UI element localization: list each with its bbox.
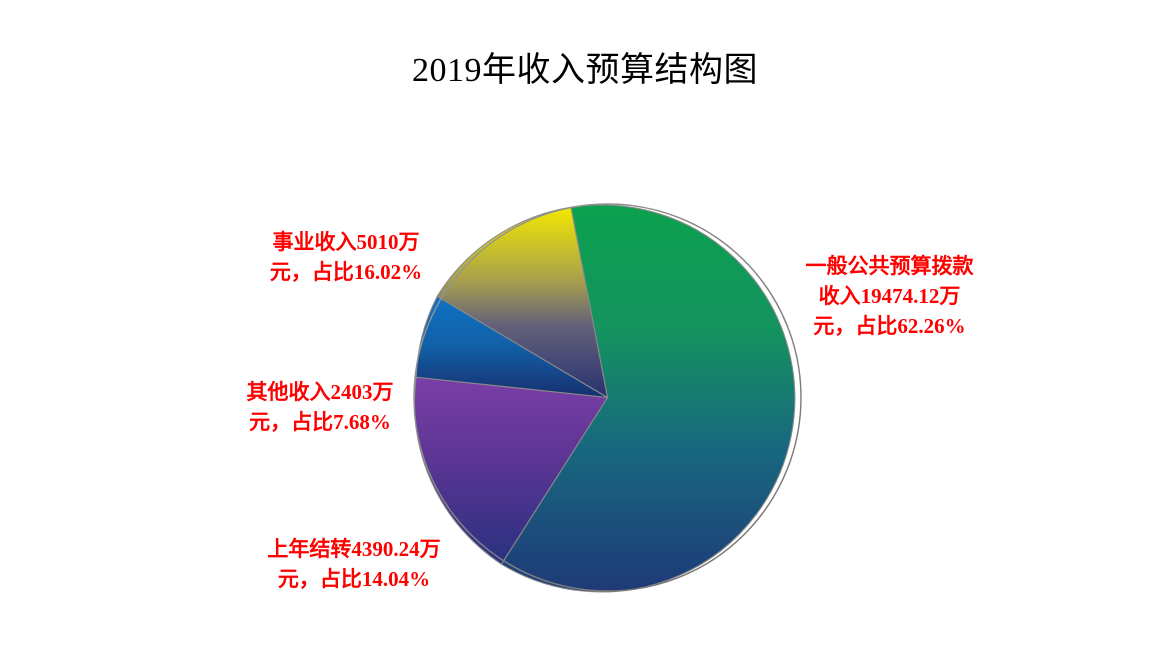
pie-label-business-income: 事业收入5010万 元，占比16.02% [246, 228, 446, 288]
pie-label-general-public-budget: 一般公共预算拨款 收入19474.12万 元，占比62.26% [782, 252, 997, 341]
pie-label-carryover: 上年结转4390.24万 元，占比14.04% [238, 535, 470, 595]
chart-title: 2019年收入预算结构图 [0, 42, 1170, 91]
pie-chart-figure: 2019年收入预算结构图 [0, 0, 1170, 665]
pie-label-other-income: 其他收入2403万 元，占比7.68% [222, 378, 418, 438]
pie-slices [415, 205, 795, 592]
